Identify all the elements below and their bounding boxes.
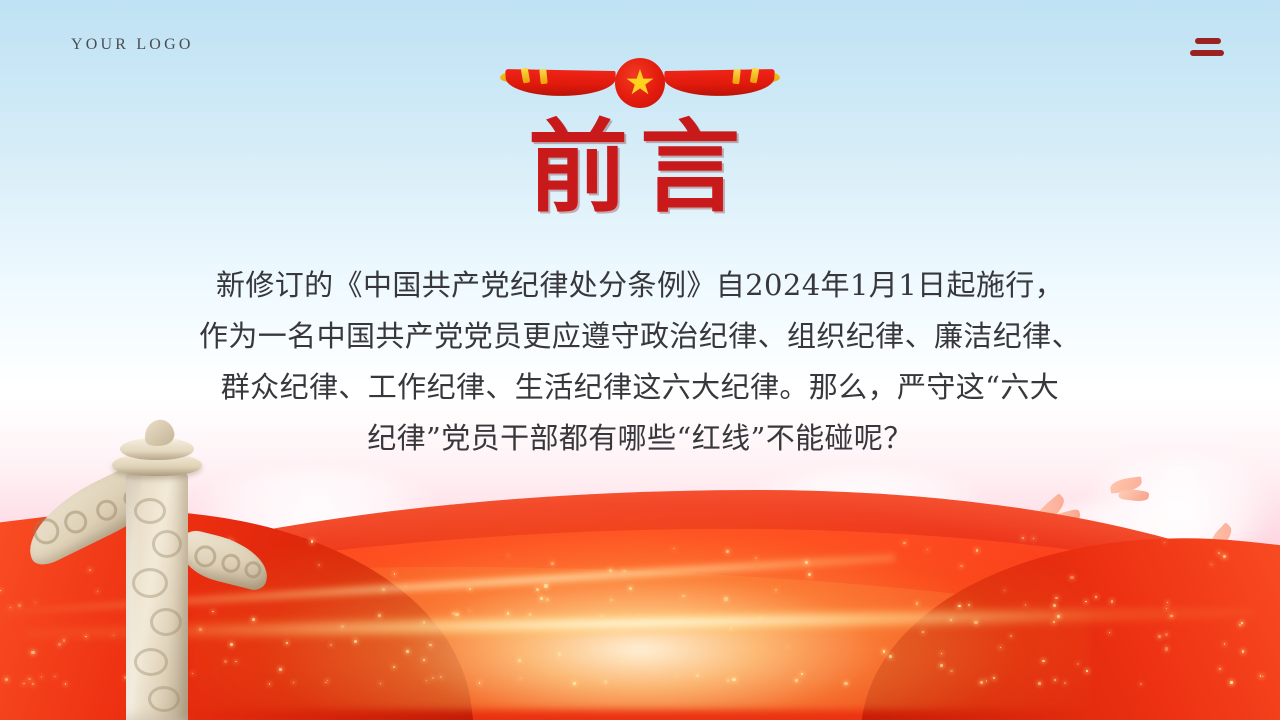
sparkle-particle	[689, 623, 690, 624]
sparkle-particle	[940, 664, 943, 667]
sparkle-particle	[235, 661, 236, 662]
sparkle-particle	[1219, 668, 1221, 670]
sparkle-particle	[916, 602, 919, 605]
sparkle-particle	[1053, 621, 1055, 623]
sparkle-particle	[1230, 681, 1232, 683]
sparkle-particle	[1070, 576, 1073, 579]
sparkle-particle	[341, 625, 344, 628]
sparkle-particle	[23, 683, 24, 684]
sparkle-particle	[18, 604, 21, 607]
body-paragraph: 新修订的《中国共产党纪律处分条例》自2024年1月1日起施行， 作为一名中国共产…	[140, 260, 1140, 464]
sparkle-particle	[426, 680, 427, 681]
sparkle-particle	[394, 573, 396, 575]
sparkle-particle	[32, 683, 34, 685]
sparkle-particle	[673, 548, 675, 550]
sparkle-particle	[325, 682, 327, 684]
sparkle-particle	[960, 565, 962, 567]
sparkle-particle	[922, 631, 924, 633]
sparkle-particle	[795, 679, 798, 682]
sparkle-particle	[968, 604, 970, 606]
sparkle-particle	[327, 680, 329, 682]
sparkle-particle	[950, 670, 952, 672]
sparkle-particle	[601, 615, 602, 616]
sparkle-particle	[573, 682, 576, 685]
sparkle-particle	[976, 549, 978, 551]
sparkle-particle	[330, 644, 332, 646]
sparkle-particle	[58, 643, 61, 646]
sparkle-particle	[1000, 647, 1001, 648]
sparkle-particle	[469, 588, 471, 590]
body-line: 作为一名中国共产党党员更应遵守政治纪律、组织纪律、廉洁纪律、	[140, 311, 1140, 362]
sparkle-particle	[980, 681, 982, 683]
sparkle-particle	[85, 636, 87, 638]
sparkle-particle	[623, 570, 626, 573]
sparkle-particle	[423, 621, 426, 624]
slide-canvas: YOUR LOGO 前言 新修订的《中国共产党纪律处分条例》自2024年1月1日…	[0, 0, 1280, 720]
sparkle-particle	[1010, 635, 1012, 637]
sparkle-particle	[638, 615, 639, 616]
sparkle-particle	[1164, 542, 1165, 543]
sparkle-particle	[429, 644, 431, 646]
sparkle-particle	[1223, 555, 1226, 558]
body-line: 新修订的《中国共产党纪律处分条例》自2024年1月1日起施行，	[140, 260, 1140, 311]
sparkle-particle	[1054, 679, 1056, 681]
sparkle-particle	[28, 678, 30, 680]
sparkle-particle	[455, 613, 458, 616]
sparkle-particle	[696, 674, 699, 677]
sparkle-particle	[382, 588, 385, 591]
sparkle-particle	[1224, 643, 1225, 644]
sparkle-particle	[479, 682, 480, 683]
huabiao-stone-column	[92, 420, 222, 720]
sparkle-particle	[41, 676, 42, 677]
page-title: 前言	[0, 112, 1280, 222]
sparkle-particle	[1242, 650, 1245, 653]
sparkle-particle	[318, 564, 321, 567]
hamburger-menu-icon[interactable]	[1190, 38, 1224, 60]
red-ribbon-star-banner	[500, 58, 780, 108]
sparkle-particle	[0, 590, 1, 591]
sparkle-particle	[941, 653, 942, 654]
sparkle-particle	[1167, 602, 1168, 603]
sparkle-particle	[726, 550, 729, 553]
sparkle-particle	[1038, 682, 1041, 685]
sparkle-particle	[1086, 670, 1087, 671]
sparkle-particle	[1057, 615, 1060, 618]
body-line: 纪律”党员干部都有哪些“红线”不能碰呢？	[140, 413, 1140, 464]
sparkle-particle	[380, 683, 381, 684]
sparkle-particle	[950, 619, 952, 621]
sparkle-particle	[958, 605, 960, 607]
sparkle-particle	[1022, 537, 1024, 539]
sparkle-particle	[529, 613, 531, 615]
sparkle-particle	[35, 602, 36, 603]
sparkle-particle	[677, 676, 678, 677]
sparkle-particle	[224, 660, 227, 663]
sparkle-particle	[986, 680, 987, 681]
sparkle-particle	[551, 562, 554, 565]
sparkle-particle	[903, 542, 905, 544]
body-line: 群众纪律、工作纪律、生活纪律这六大纪律。那么，严守这“六大	[140, 362, 1140, 413]
sparkle-particle	[540, 597, 543, 600]
sparkle-particle	[405, 586, 406, 587]
sparkle-particle	[755, 557, 757, 559]
sparkle-particle	[546, 598, 549, 601]
sparkle-particle	[5, 678, 8, 681]
sparkle-particle	[974, 621, 977, 624]
sparkle-particle	[1158, 635, 1161, 638]
sparkle-particle	[1109, 632, 1110, 633]
sparkle-particle	[230, 643, 233, 646]
sparkle-particle	[1260, 675, 1261, 676]
sparkle-particle	[732, 678, 735, 681]
sparkle-particle	[1140, 683, 1142, 685]
sparkle-particle	[1170, 615, 1173, 618]
sparkle-particle	[1077, 663, 1080, 666]
five-pointed-star-icon	[626, 69, 654, 97]
sparkle-particle	[682, 595, 684, 597]
sparkle-particle	[393, 666, 395, 668]
sparkle-particle	[293, 682, 294, 683]
sparkle-particle	[1095, 596, 1097, 598]
menu-bar-top	[1195, 38, 1221, 44]
sparkle-particle	[609, 569, 612, 572]
logo-text: YOUR LOGO	[71, 36, 194, 54]
sparkle-particle	[354, 640, 357, 643]
sparkle-particle	[1064, 682, 1066, 684]
sparkle-particle	[406, 650, 409, 653]
sparkle-particle	[558, 652, 561, 655]
sparkle-particle	[775, 589, 777, 591]
sparkle-particle	[311, 540, 314, 543]
sparkle-particle	[1042, 660, 1045, 663]
sparkle-particle	[1241, 622, 1244, 625]
sparkle-particle	[1004, 590, 1005, 591]
menu-bar-bottom	[1190, 50, 1224, 56]
ribbon-center-medallion	[615, 58, 665, 108]
sparkle-particle	[805, 561, 808, 564]
sparkle-particle	[1025, 604, 1026, 605]
sparkle-particle	[1166, 608, 1167, 609]
sparkle-particle	[759, 617, 762, 620]
sparkle-particle	[89, 569, 91, 571]
sparkle-particle	[507, 612, 509, 614]
sparkle-particle	[808, 573, 811, 576]
sparkle-particle	[252, 618, 255, 621]
sparkle-particle	[621, 660, 624, 663]
sparkle-particle	[1165, 647, 1168, 650]
sparkle-particle	[279, 668, 282, 671]
sparkle-particle	[269, 683, 271, 685]
sparkle-particle	[787, 646, 788, 647]
sparkle-particle	[1055, 597, 1058, 600]
sparkle-particle	[801, 673, 803, 675]
sparkle-particle	[1165, 633, 1168, 636]
sparkle-particle	[10, 607, 11, 608]
column-shaft	[126, 472, 188, 720]
sparkle-particle	[544, 584, 547, 587]
sparkle-particle	[31, 651, 34, 654]
sparkle-particle	[889, 655, 892, 658]
sparkle-particle	[452, 612, 455, 615]
sparkle-particle	[1262, 676, 1263, 677]
sparkle-particle	[730, 627, 732, 629]
sparkle-particle	[518, 659, 521, 662]
sparkle-particle	[611, 599, 612, 600]
sparkle-particle	[993, 677, 994, 678]
sparkle-particle	[469, 610, 470, 611]
sparkle-particle	[65, 683, 66, 684]
sparkle-particle	[378, 614, 381, 617]
sparkle-particle	[1239, 624, 1241, 626]
sparkle-particle	[927, 549, 928, 550]
sparkle-particle	[536, 588, 539, 591]
ribbon-gold-accent	[539, 69, 548, 85]
sparkle-particle	[1053, 604, 1056, 607]
sparkle-particle	[508, 555, 510, 557]
sparkle-particle	[604, 680, 607, 683]
sparkle-particle	[844, 682, 847, 685]
sparkle-particle	[63, 639, 66, 642]
sparkle-particle	[1211, 564, 1212, 565]
sparkle-particle	[440, 676, 442, 678]
sparkle-particle	[1218, 552, 1220, 554]
sparkle-particle	[520, 678, 521, 679]
sparkle-particle	[286, 642, 288, 644]
sparkle-particle	[724, 597, 727, 600]
sparkle-particle	[432, 677, 434, 679]
sparkle-particle	[1111, 600, 1114, 603]
sparkle-particle	[1033, 538, 1035, 540]
sparkle-particle	[727, 679, 730, 682]
sparkle-particle	[54, 676, 56, 678]
sparkle-particle	[629, 587, 632, 590]
sparkle-particle	[883, 650, 885, 652]
sparkle-particle	[1085, 601, 1086, 602]
sparkle-particle	[423, 659, 425, 661]
